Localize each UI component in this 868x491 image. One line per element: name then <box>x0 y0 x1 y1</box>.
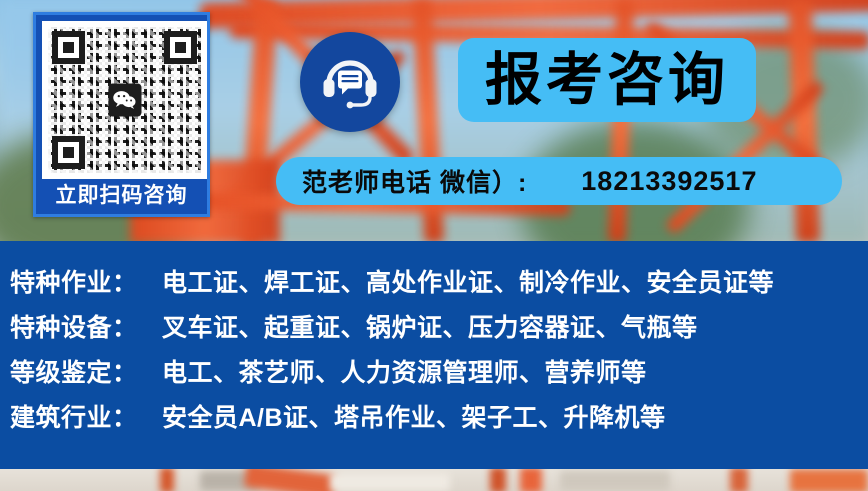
strip-blob-1 <box>160 469 174 491</box>
headset-chat-icon <box>300 32 400 132</box>
strip-blob-6 <box>520 469 542 491</box>
strip-blob-5 <box>490 469 506 491</box>
strip-blob-8 <box>730 469 748 491</box>
services-banner: 特种作业： 电工证、焊工证、高处作业证、制冷作业、安全员证等 特种设备： 叉车证… <box>0 241 868 469</box>
service-value: 电工证、焊工证、高处作业证、制冷作业、安全员证等 <box>162 263 774 299</box>
contact-label: 范老师电话 微信）: <box>302 163 527 199</box>
service-label: 特种设备： <box>10 308 162 344</box>
service-value: 安全员A/B证、塔吊作业、架子工、升降机等 <box>162 398 666 434</box>
title-badge: 报考咨询 <box>458 38 756 122</box>
qr-code-frame <box>42 21 207 179</box>
service-label: 等级鉴定： <box>10 353 162 389</box>
strip-blob-4 <box>330 473 450 491</box>
qr-code-image[interactable] <box>48 27 201 173</box>
service-label: 特种作业： <box>10 263 162 299</box>
service-value: 叉车证、起重证、锅炉证、压力容器证、气瓶等 <box>162 308 698 344</box>
contact-phone-number[interactable]: 18213392517 <box>581 166 757 197</box>
contact-banner[interactable]: 范老师电话 微信）: 18213392517 <box>276 157 842 205</box>
qr-caption: 立即扫码咨询 <box>36 174 207 214</box>
qr-finder-top-right <box>164 31 197 64</box>
qr-finder-bottom-left <box>52 136 85 169</box>
strip-blob-9 <box>790 469 868 491</box>
service-row-special-equipment: 特种设备： 叉车证、起重证、锅炉证、压力容器证、气瓶等 <box>10 308 868 353</box>
strip-blob-7 <box>560 471 670 491</box>
page-title: 报考咨询 <box>485 52 729 109</box>
bottom-photo-strip <box>0 469 868 491</box>
service-value: 电工、茶艺师、人力资源管理师、营养师等 <box>162 353 647 389</box>
qr-code-panel[interactable]: 立即扫码咨询 <box>33 12 210 217</box>
service-row-construction-industry: 建筑行业： 安全员A/B证、塔吊作业、架子工、升降机等 <box>10 398 868 443</box>
qr-finder-top-left <box>52 31 85 64</box>
service-row-special-operations: 特种作业： 电工证、焊工证、高处作业证、制冷作业、安全员证等 <box>10 263 868 308</box>
service-label: 建筑行业： <box>10 398 162 434</box>
promo-poster: 立即扫码咨询 报考咨询 范老师电话 微信）: 18213392517 <box>0 0 868 491</box>
wechat-icon <box>108 84 141 117</box>
service-row-grade-assessment: 等级鉴定： 电工、茶艺师、人力资源管理师、营养师等 <box>10 353 868 398</box>
strip-blob-3 <box>244 469 336 491</box>
